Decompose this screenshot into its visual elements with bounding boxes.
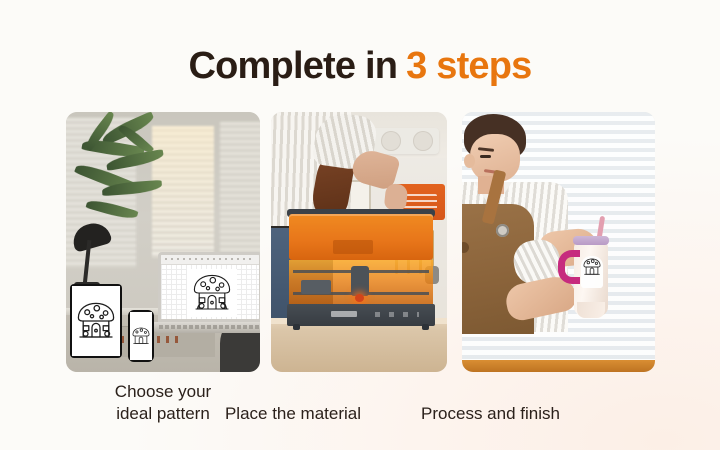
- laptop-screen: [161, 255, 259, 319]
- smartphone: [128, 310, 154, 362]
- design-app-toolbar: [161, 255, 259, 265]
- page-title: Complete in3 steps: [0, 44, 720, 88]
- laser-beam-spot: [355, 294, 364, 302]
- step-3-caption: Process and finish: [392, 403, 589, 425]
- machine-foot: [422, 324, 429, 330]
- heading-accent-text: 3 steps: [406, 45, 531, 87]
- laptop-artwork: [187, 269, 237, 317]
- laser-head: [351, 266, 369, 296]
- tablet-artwork: [72, 286, 120, 356]
- step-2-place-material-photo: [271, 112, 447, 372]
- laptop: [158, 252, 260, 340]
- laptop-keyboard-base: [153, 322, 260, 333]
- step-2-caption: Place the material: [200, 403, 386, 425]
- tumbler-lid: [573, 236, 609, 245]
- step-1-choose-pattern-photo: [66, 112, 260, 372]
- tumbler-taper: [577, 302, 605, 318]
- brand-logo-icon: [331, 311, 357, 317]
- machine-foot: [293, 324, 300, 330]
- engraver-base: [287, 304, 435, 326]
- ear: [464, 154, 475, 168]
- heading-main-text: Complete in: [188, 45, 397, 87]
- mushroom-house-line-art-icon: [581, 256, 603, 278]
- tumbler-handle: [558, 250, 580, 284]
- engraver-chamber: [289, 260, 433, 306]
- outlet-socket: [413, 131, 433, 151]
- steps-image-row: [66, 112, 655, 372]
- tumbler-engraving: [581, 256, 603, 288]
- laptop-keys: [159, 325, 260, 329]
- engraved-tumbler: [572, 232, 616, 318]
- step-3-process-finish-photo: [462, 112, 655, 372]
- window-blinds-right: [220, 122, 260, 262]
- laptop-lid: [158, 252, 260, 322]
- outlet-socket: [381, 131, 401, 151]
- promo-banner: Complete in3 steps: [0, 0, 720, 450]
- wooden-counter-edge: [462, 360, 655, 372]
- hand: [384, 183, 409, 211]
- phone-artwork: [130, 312, 152, 360]
- laser-engraver: [287, 214, 435, 326]
- steps-caption-row: Choose your ideal pattern Place the mate…: [0, 381, 720, 441]
- control-knobs: [375, 312, 419, 317]
- eye: [480, 155, 491, 158]
- mushroom-house-line-art-icon: [130, 312, 152, 360]
- tablet: [70, 284, 122, 358]
- mushroom-house-line-art-icon: [72, 286, 120, 356]
- engraver-orange-lid: [289, 214, 433, 260]
- mushroom-house-line-art-icon: [187, 269, 237, 317]
- apron-buckle: [496, 224, 509, 237]
- lid-handle-notch: [333, 240, 373, 254]
- material-block: [301, 280, 331, 294]
